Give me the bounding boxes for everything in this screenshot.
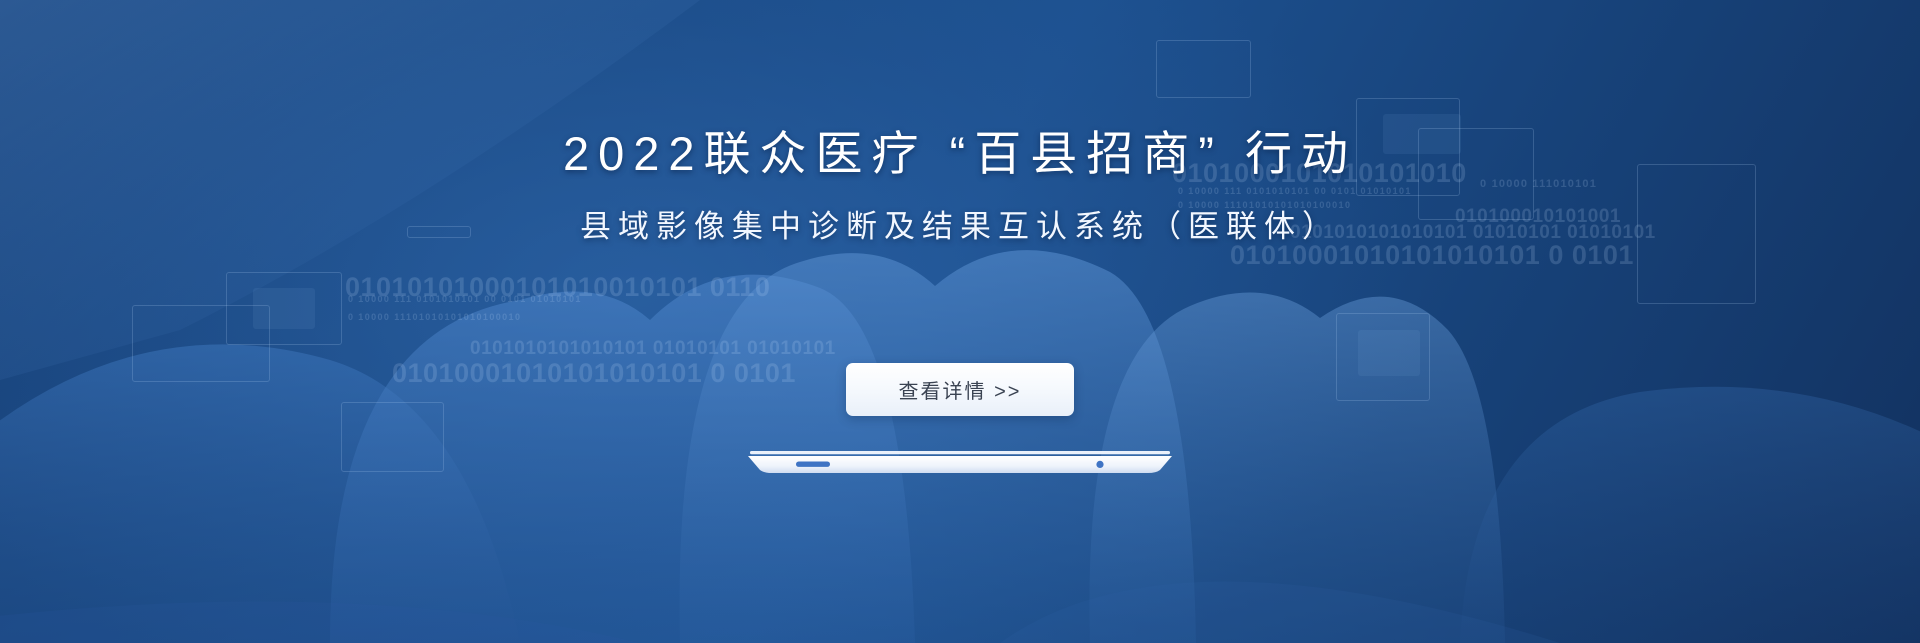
page-title: 2022联众医疗 “百县招商” 行动	[563, 127, 1357, 181]
laptop-speaker-pill	[796, 462, 830, 467]
decor-rect-fill-1	[253, 288, 315, 329]
cta-container: 查看详情 >>	[0, 363, 1920, 416]
subtitle-container: 县域影像集中诊断及结果互认系统（医联体）	[0, 182, 1920, 271]
promo-banner: 01010101000101010010101 0110 0 10000 111…	[0, 0, 1920, 643]
view-details-button[interactable]: 查看详情 >>	[846, 363, 1074, 416]
page-subtitle: 县域影像集中诊断及结果互认系统（医联体）	[580, 208, 1340, 245]
laptop-base-graphic	[748, 450, 1172, 476]
decor-rect-outline-5	[1156, 40, 1251, 98]
laptop-camera-dot	[1096, 461, 1103, 468]
